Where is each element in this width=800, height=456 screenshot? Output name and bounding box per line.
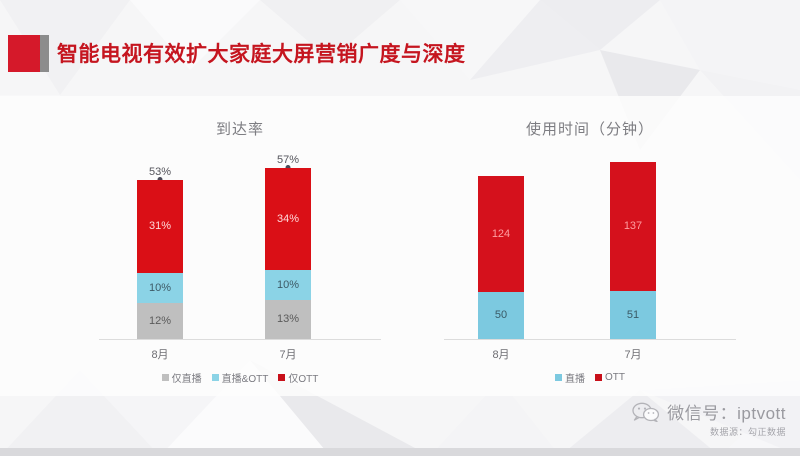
wechat-icon	[632, 402, 660, 422]
chart-title-reach-rate: 到达率	[95, 118, 385, 139]
bar-stack-reach-aug[interactable]: 31% 10% 12%	[137, 180, 183, 339]
wechat-id-label: 微信号：iptvott	[667, 399, 786, 424]
x-axis-label-usage-aug: 8月	[471, 346, 531, 362]
x-axis-line	[444, 339, 736, 340]
legend-item-live-and-ott[interactable]: 直播&OTT	[212, 370, 269, 385]
legend-swatch-only-live	[162, 374, 169, 381]
bar-segment-only-live-jul[interactable]: 13%	[265, 300, 311, 339]
title-marker-gray	[40, 35, 49, 72]
legend-label-ott: OTT	[605, 372, 625, 383]
data-source-label: 数据源：勾正数据	[632, 425, 786, 438]
chart-reach-rate: 到达率 53% 31% 10% 12% 57% 34% 10%	[95, 118, 385, 398]
slide-canvas: 智能电视有效扩大家庭大屏营销广度与深度 到达率 53% 31% 10% 12% …	[0, 0, 800, 456]
bar-segment-live-aug[interactable]: 50	[478, 292, 524, 339]
legend-swatch-only-ott	[278, 374, 285, 381]
x-axis-label-reach-jul: 7月	[258, 346, 318, 362]
bar-segment-only-ott-jul[interactable]: 34%	[265, 168, 311, 270]
legend-label-live: 直播	[565, 370, 585, 385]
bar-stack-usage-aug[interactable]: 124 50	[478, 176, 524, 339]
legend-swatch-live-and-ott	[212, 374, 219, 381]
slide-header: 智能电视有效扩大家庭大屏营销广度与深度	[0, 26, 800, 78]
x-axis-label-usage-jul: 7月	[603, 346, 663, 362]
chart-title-usage-time: 使用时间（分钟）	[440, 118, 740, 139]
x-axis-label-reach-aug: 8月	[130, 346, 190, 362]
bar-segment-live-and-ott-aug[interactable]: 10%	[137, 273, 183, 303]
bar-segment-live-jul[interactable]: 51	[610, 291, 656, 339]
legend-item-ott[interactable]: OTT	[595, 372, 625, 383]
bar-segment-ott-aug[interactable]: 124	[478, 176, 524, 292]
x-axis-line	[99, 339, 381, 340]
footer-bar	[0, 448, 800, 456]
bar-segment-only-live-aug[interactable]: 12%	[137, 303, 183, 339]
page-title: 智能电视有效扩大家庭大屏营销广度与深度	[57, 38, 466, 68]
bar-segment-only-ott-aug[interactable]: 31%	[137, 180, 183, 273]
plot-area-reach-rate: 53% 31% 10% 12% 57% 34% 10% 13%	[95, 154, 385, 340]
bar-stack-usage-jul[interactable]: 137 51	[610, 162, 656, 339]
legend-label-only-ott: 仅OTT	[288, 370, 318, 385]
wechat-line: 微信号：iptvott	[632, 399, 786, 424]
legend-item-only-ott[interactable]: 仅OTT	[278, 370, 318, 385]
bar-stack-reach-jul[interactable]: 34% 10% 13%	[265, 168, 311, 339]
legend-label-only-live: 仅直播	[172, 370, 202, 385]
legend-swatch-ott	[595, 374, 602, 381]
watermark: 微信号：iptvott 数据源：勾正数据	[632, 399, 786, 438]
legend-usage-time: 直播 OTT	[440, 370, 740, 385]
bar-segment-ott-jul[interactable]: 137	[610, 162, 656, 291]
title-marker-red	[8, 35, 40, 72]
legend-swatch-live	[555, 374, 562, 381]
legend-item-only-live[interactable]: 仅直播	[162, 370, 202, 385]
legend-label-live-and-ott: 直播&OTT	[222, 370, 269, 385]
plot-area-usage-time: 124 50 137 51	[440, 154, 740, 340]
chart-usage-time: 使用时间（分钟） 124 50 137 51 8月 7月	[440, 118, 740, 398]
legend-item-live[interactable]: 直播	[555, 370, 585, 385]
bar-segment-live-and-ott-jul[interactable]: 10%	[265, 270, 311, 300]
legend-reach-rate: 仅直播 直播&OTT 仅OTT	[95, 370, 385, 385]
